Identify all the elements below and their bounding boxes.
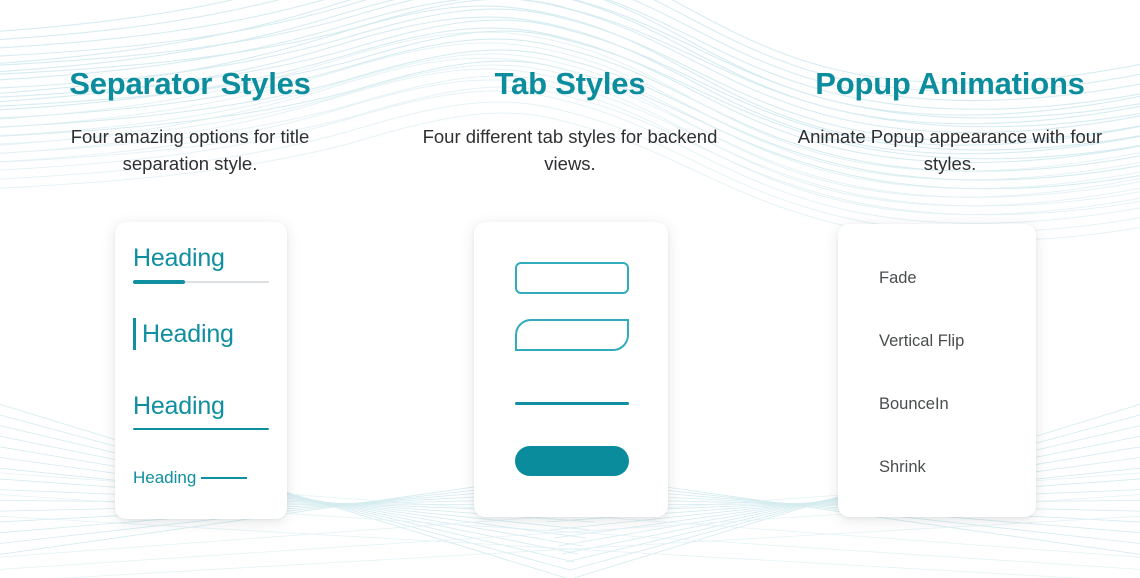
popup-animation-item[interactable]: BounceIn	[879, 395, 949, 415]
column-description: Four different tab styles for backend vi…	[405, 123, 735, 179]
separator-style-option[interactable]: Heading	[133, 468, 269, 488]
popup-animations-card: Fade Vertical Flip BounceIn Shrink	[838, 224, 1036, 517]
tab-style-list	[474, 222, 668, 517]
tab-style-option-rounded-rectangle[interactable]	[515, 262, 631, 294]
popup-animation-item[interactable]: Vertical Flip	[879, 332, 964, 352]
tab-shape-asymmetric-corner-icon	[515, 319, 629, 351]
popup-animation-item[interactable]: Fade	[879, 269, 917, 289]
column-description: Animate Popup appearance with four style…	[785, 123, 1115, 179]
popup-animation-list: Fade Vertical Flip BounceIn Shrink	[838, 224, 1036, 517]
separator-rule-underline	[133, 428, 269, 430]
separator-vertical-bar	[133, 318, 136, 350]
separator-inline-line	[201, 477, 247, 479]
separator-row-vertical-bar: Heading	[133, 318, 269, 350]
tab-style-option-underline[interactable]	[515, 402, 631, 405]
tab-shape-solid-pill-icon	[515, 446, 629, 476]
separator-heading-label: Heading	[133, 244, 269, 273]
tab-shape-rounded-rectangle-icon	[515, 262, 629, 294]
column-description: Four amazing options for title separatio…	[25, 123, 355, 179]
separator-rule-partial-fill	[133, 280, 269, 284]
tab-shape-underline-icon	[515, 402, 629, 405]
separator-styles-card: Heading Heading Heading Heading	[115, 222, 287, 519]
separator-rule-fill	[133, 280, 185, 284]
tab-style-option-asymmetric[interactable]	[515, 319, 631, 351]
column-heading: Popup Animations	[815, 68, 1084, 101]
separator-style-option[interactable]: Heading	[133, 318, 269, 350]
popup-animation-item[interactable]: Shrink	[879, 458, 926, 478]
promo-banner: Separator Styles Four amazing options fo…	[0, 0, 1140, 578]
separator-style-list: Heading Heading Heading Heading	[115, 222, 287, 519]
tab-styles-card	[474, 222, 668, 517]
separator-heading-label: Heading	[133, 392, 269, 421]
tab-style-option-pill[interactable]	[515, 446, 631, 476]
separator-style-option[interactable]: Heading	[133, 244, 269, 284]
separator-heading-label: Heading	[133, 468, 196, 488]
separator-row-inline-line: Heading	[133, 468, 269, 488]
separator-style-option[interactable]: Heading	[133, 392, 269, 430]
column-heading: Tab Styles	[495, 68, 646, 101]
column-heading: Separator Styles	[69, 68, 310, 101]
separator-heading-label: Heading	[142, 320, 234, 349]
